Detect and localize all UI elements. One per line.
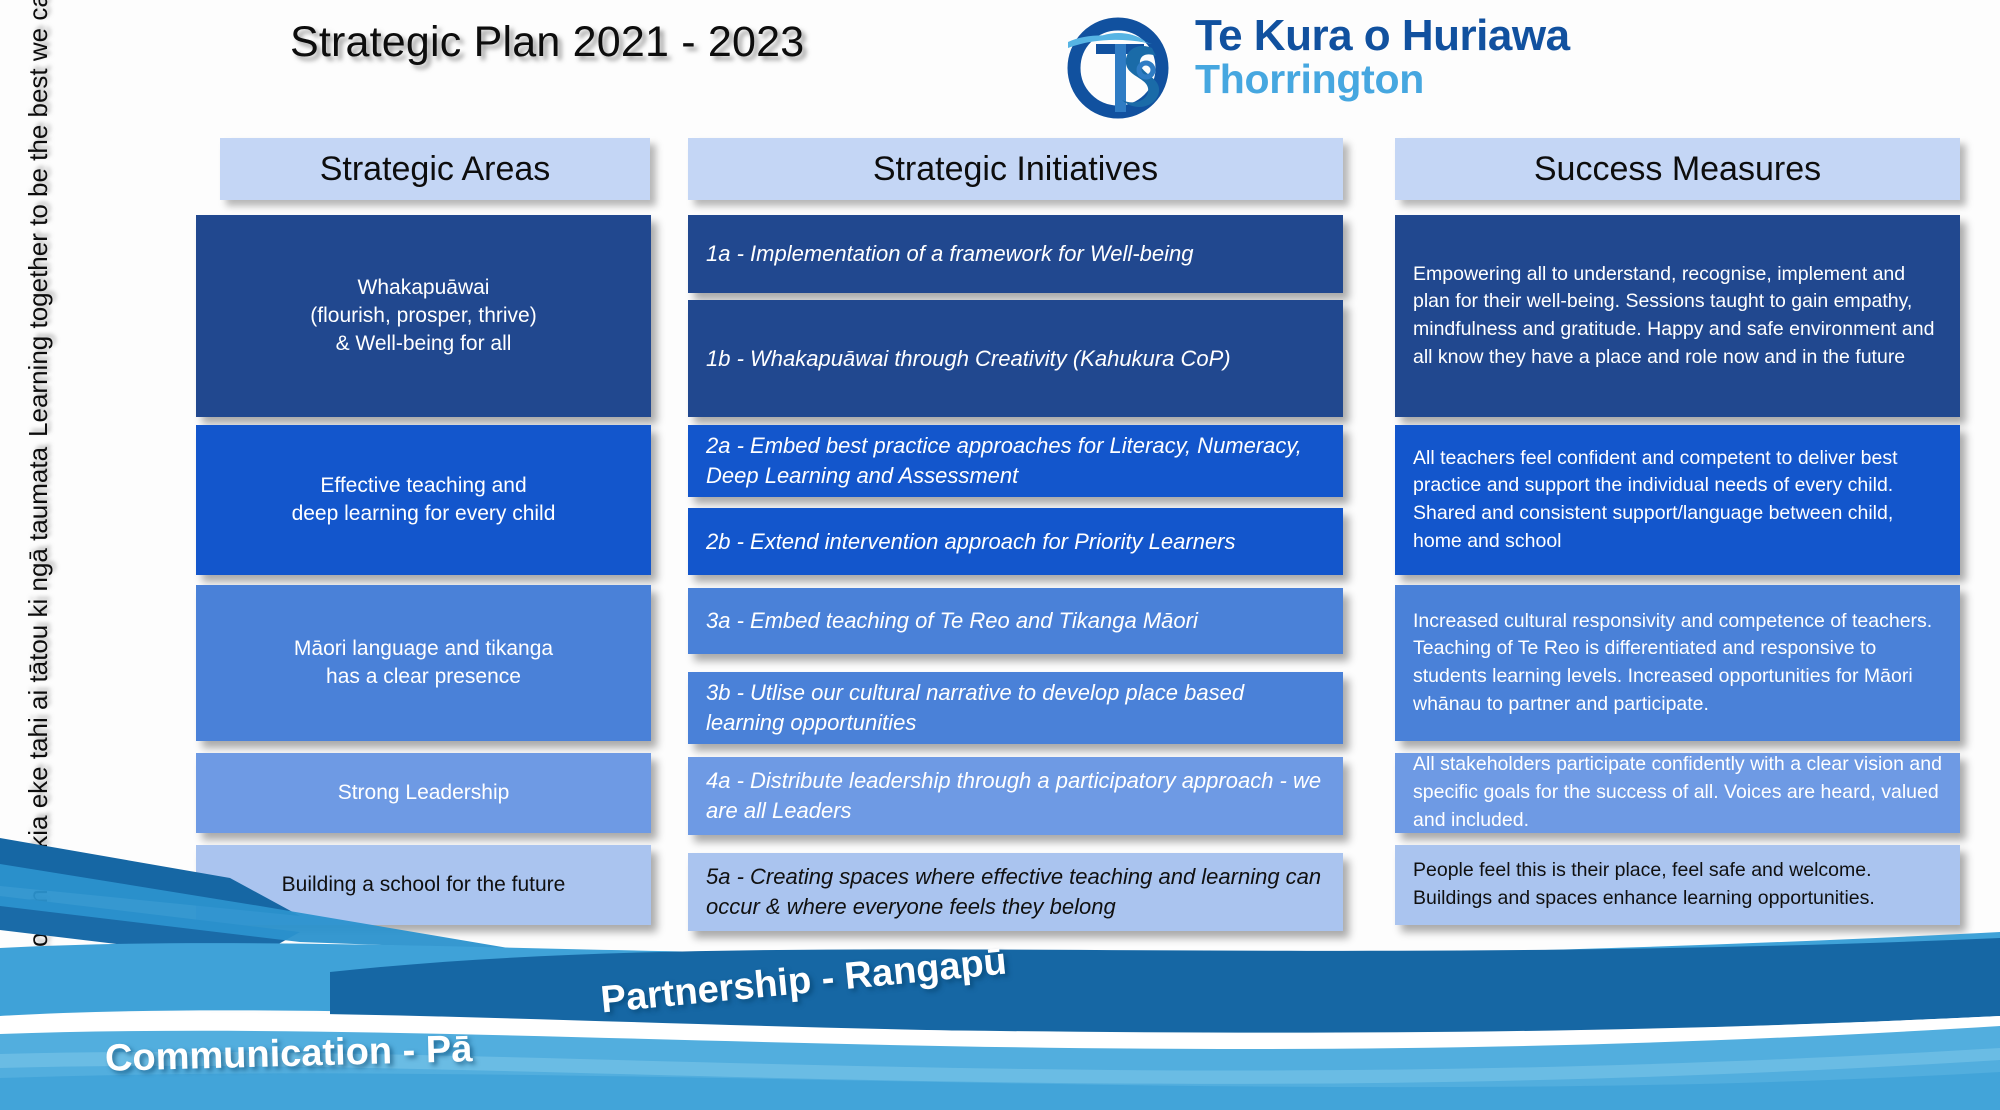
column-header-strategic-areas: Strategic Areas bbox=[220, 138, 650, 200]
strategic-initiative-text: 3a - Embed teaching of Te Reo and Tikang… bbox=[706, 606, 1325, 636]
strategic-initiative-cell: 2a - Embed best practice approaches for … bbox=[688, 425, 1343, 497]
success-measure-text: All stakeholders participate confidently… bbox=[1413, 753, 1942, 833]
success-measure-text: People feel this is their place, feel sa… bbox=[1413, 857, 1942, 912]
strategic-initiative-text: 2a - Embed best practice approaches for … bbox=[706, 431, 1325, 491]
column-header-label: Strategic Initiatives bbox=[873, 150, 1158, 189]
strategic-area-cell: Whakapuāwai (flourish, prosper, thrive) … bbox=[196, 215, 651, 417]
school-logo: Te Kura o Huriawa Thorrington bbox=[1060, 4, 1700, 124]
strategic-initiative-text: 5a - Creating spaces where effective tea… bbox=[706, 862, 1325, 922]
strategic-initiative-text: 1a - Implementation of a framework for W… bbox=[706, 239, 1325, 269]
column-header-success-measures: Success Measures bbox=[1395, 138, 1960, 200]
motto-maori: Ako tahi ai kia eke tahi ai tātou ki ngā… bbox=[23, 447, 54, 977]
success-measure-text: Increased cultural responsivity and comp… bbox=[1413, 608, 1942, 719]
column-header-label: Success Measures bbox=[1534, 150, 1821, 189]
strategic-area-text: Whakapuāwai (flourish, prosper, thrive) … bbox=[196, 274, 651, 357]
strategic-plan-poster: Strategic Plan 2021 - 2023 Te Kura o Hur… bbox=[0, 0, 2000, 1110]
success-measure-cell: Empowering all to understand, recognise,… bbox=[1395, 215, 1960, 417]
strategic-initiative-text: 2b - Extend intervention approach for Pr… bbox=[706, 527, 1325, 557]
strategic-area-text: Māori language and tikanga has a clear p… bbox=[196, 635, 651, 690]
strategic-initiative-cell: 2b - Extend intervention approach for Pr… bbox=[688, 508, 1343, 575]
strategic-initiative-cell: 3b - Utlise our cultural narrative to de… bbox=[688, 672, 1343, 744]
logo-monogram-icon bbox=[1060, 8, 1188, 120]
motto-english: Learning together to be the best we can … bbox=[23, 0, 54, 437]
column-header-label: Strategic Areas bbox=[320, 150, 551, 189]
strategic-area-text: Building a school for the future bbox=[196, 871, 651, 899]
logo-line-1: Te Kura o Huriawa bbox=[1195, 14, 1570, 58]
strategic-initiative-text: 1b - Whakapuāwai through Creativity (Kah… bbox=[706, 344, 1325, 374]
success-measure-cell: All stakeholders participate confidently… bbox=[1395, 753, 1960, 833]
success-measure-text: All teachers feel confident and competen… bbox=[1413, 445, 1942, 556]
strategic-initiative-text: 4a - Distribute leadership through a par… bbox=[706, 766, 1325, 826]
ribbon-label-communication: Communication - Pā bbox=[105, 1028, 473, 1081]
strategic-area-text: Strong Leadership bbox=[196, 779, 651, 807]
strategic-area-cell: Effective teaching and deep learning for… bbox=[196, 425, 651, 575]
page-title: Strategic Plan 2021 - 2023 bbox=[290, 18, 804, 67]
strategic-area-cell: Strong Leadership bbox=[196, 753, 651, 833]
success-measure-cell: All teachers feel confident and competen… bbox=[1395, 425, 1960, 575]
column-header-strategic-initiatives: Strategic Initiatives bbox=[688, 138, 1343, 200]
school-motto: Ako tahi ai kia eke tahi ai tātou ki ngā… bbox=[23, 55, 143, 865]
logo-line-2: Thorrington bbox=[1195, 58, 1570, 101]
logo-wordmark: Te Kura o Huriawa Thorrington bbox=[1195, 14, 1570, 101]
strategic-area-text: Effective teaching and deep learning for… bbox=[196, 472, 651, 527]
strategic-area-cell: Building a school for the future bbox=[196, 845, 651, 925]
ribbon-label-partnership: Partnership - Rangapū bbox=[599, 941, 1009, 1023]
success-measure-cell: Increased cultural responsivity and comp… bbox=[1395, 585, 1960, 741]
strategic-initiative-cell: 1a - Implementation of a framework for W… bbox=[688, 215, 1343, 293]
strategic-initiative-text: 3b - Utlise our cultural narrative to de… bbox=[706, 678, 1325, 738]
strategic-initiative-cell: 5a - Creating spaces where effective tea… bbox=[688, 853, 1343, 931]
success-measure-cell: People feel this is their place, feel sa… bbox=[1395, 845, 1960, 925]
success-measure-text: Empowering all to understand, recognise,… bbox=[1413, 261, 1942, 372]
strategic-area-cell: Māori language and tikanga has a clear p… bbox=[196, 585, 651, 741]
strategic-initiative-cell: 3a - Embed teaching of Te Reo and Tikang… bbox=[688, 588, 1343, 654]
strategic-initiative-cell: 1b - Whakapuāwai through Creativity (Kah… bbox=[688, 300, 1343, 417]
strategic-initiative-cell: 4a - Distribute leadership through a par… bbox=[688, 757, 1343, 835]
